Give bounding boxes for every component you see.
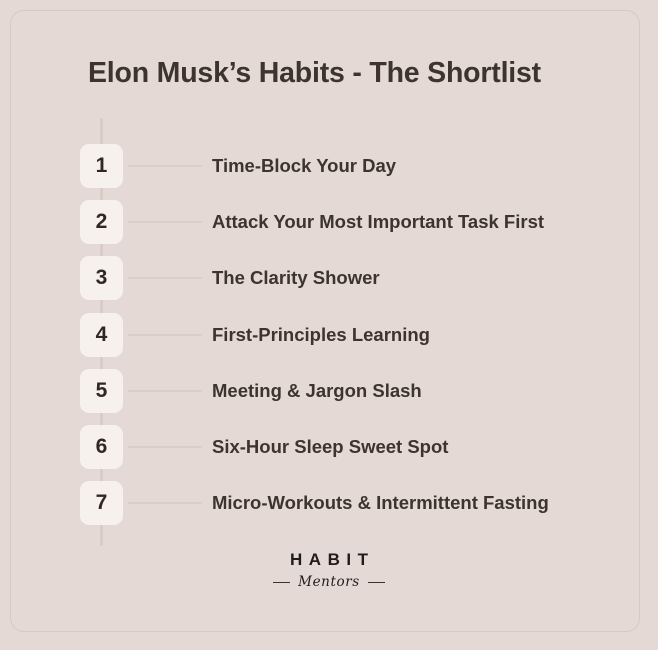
brand-tagline: Mentors bbox=[298, 574, 360, 590]
list-item[interactable]: 4First-Principles Learning bbox=[0, 313, 658, 357]
list-item-label: Meeting & Jargon Slash bbox=[212, 369, 422, 413]
infographic-card: Elon Musk’s Habits - The Shortlist 1Time… bbox=[0, 0, 658, 650]
list-item-number-badge: 1 bbox=[80, 144, 123, 188]
brand-name: HABIT bbox=[0, 549, 658, 571]
list-item-number-badge: 6 bbox=[80, 425, 123, 469]
list-item-number-badge: 7 bbox=[80, 481, 123, 525]
list-item[interactable]: 3The Clarity Shower bbox=[0, 256, 658, 300]
list-item-connector-line bbox=[128, 221, 202, 223]
list-item-connector-line bbox=[128, 277, 202, 279]
list-item[interactable]: 1Time-Block Your Day bbox=[0, 144, 658, 188]
list-item-connector-line bbox=[128, 390, 202, 392]
list-item[interactable]: 7Micro-Workouts & Intermittent Fasting bbox=[0, 481, 658, 525]
list-item-number-badge: 4 bbox=[80, 313, 123, 357]
list-item-label: Micro-Workouts & Intermittent Fasting bbox=[212, 481, 549, 525]
list-item-label: Attack Your Most Important Task First bbox=[212, 200, 544, 244]
list-item-connector-line bbox=[128, 502, 202, 504]
list-item[interactable]: 2Attack Your Most Important Task First bbox=[0, 200, 658, 244]
list-item-connector-line bbox=[128, 165, 202, 167]
list-item-label: First-Principles Learning bbox=[212, 313, 430, 357]
list-item-label: Six-Hour Sleep Sweet Spot bbox=[212, 425, 448, 469]
list-item-number-badge: 2 bbox=[80, 200, 123, 244]
dash-right-icon bbox=[368, 582, 385, 583]
list-item-label: Time-Block Your Day bbox=[212, 144, 396, 188]
dash-left-icon bbox=[273, 582, 290, 583]
brand-tagline-row: Mentors bbox=[0, 574, 658, 590]
list-item-number-badge: 5 bbox=[80, 369, 123, 413]
footer-logo: HABIT Mentors bbox=[0, 549, 658, 590]
list-item-connector-line bbox=[128, 446, 202, 448]
list-item-label: The Clarity Shower bbox=[212, 256, 380, 300]
list-item-connector-line bbox=[128, 334, 202, 336]
list-item[interactable]: 6Six-Hour Sleep Sweet Spot bbox=[0, 425, 658, 469]
list-item-number-badge: 3 bbox=[80, 256, 123, 300]
list-item[interactable]: 5Meeting & Jargon Slash bbox=[0, 369, 658, 413]
